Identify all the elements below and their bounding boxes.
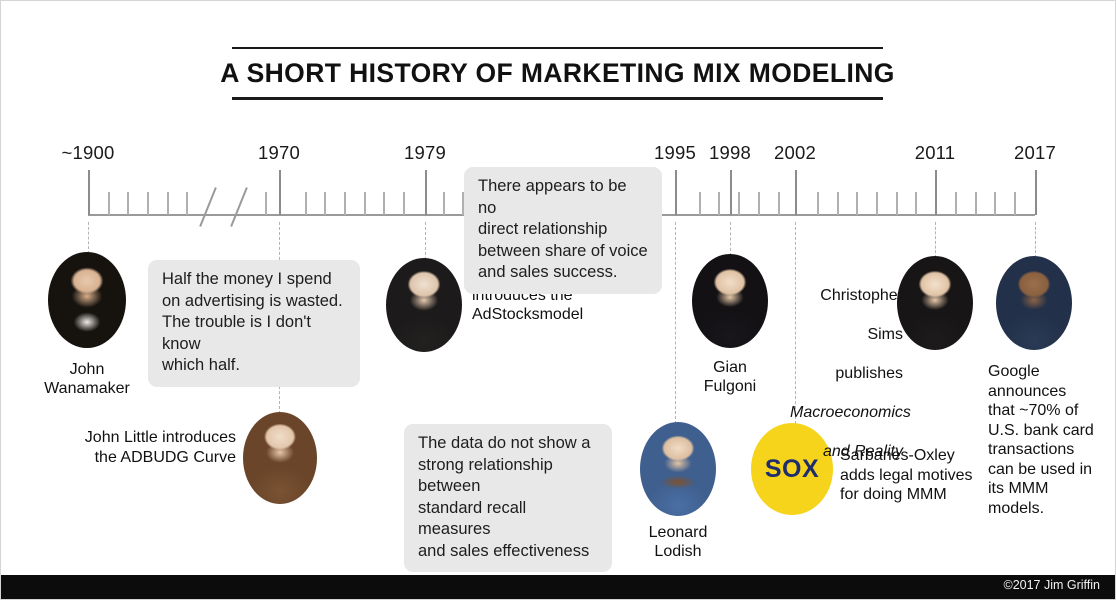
- minor-tick: [167, 192, 169, 215]
- major-tick-1998: [730, 170, 732, 215]
- year-label-1979: 1979: [404, 142, 446, 164]
- portrait-john-little: [243, 412, 317, 504]
- minor-tick: [344, 192, 346, 215]
- description-christopher-sims: Christopher Sims publishes Macroeconomic…: [790, 266, 903, 481]
- sims-book-line-2: and Reality: [790, 442, 903, 462]
- minor-tick: [837, 192, 839, 215]
- major-tick-1979: [425, 170, 427, 215]
- axis-break-slash-2: [230, 187, 248, 227]
- minor-tick: [758, 192, 760, 215]
- title-rule-bottom: [232, 97, 883, 100]
- year-label-2017: 2017: [1014, 142, 1056, 164]
- description-john-little: John Little introduces the ADBUDG Curve: [56, 428, 236, 467]
- minor-tick: [856, 192, 858, 215]
- minor-tick: [975, 192, 977, 215]
- minor-tick: [383, 192, 385, 215]
- major-tick-1900: [88, 170, 90, 215]
- minor-tick: [147, 192, 149, 215]
- portrait-leonard-lodish: [640, 422, 716, 516]
- minor-tick: [364, 192, 366, 215]
- minor-tick: [876, 192, 878, 215]
- quote-bubble-lodish: The data do not show a strong relationsh…: [404, 424, 612, 572]
- portrait-google-executive: [996, 256, 1072, 350]
- sims-line-1: Christopher: [790, 286, 903, 306]
- page-title-text: A SHORT HISTORY OF MARKETING MIX MODELIN…: [232, 47, 883, 100]
- label-john-wanamaker: John Wanamaker: [32, 360, 142, 398]
- major-tick-2011: [935, 170, 937, 215]
- major-tick-2002: [795, 170, 797, 215]
- connector-line: [730, 222, 731, 256]
- minor-tick: [324, 192, 326, 215]
- minor-tick: [127, 192, 129, 215]
- year-label-1998: 1998: [709, 142, 751, 164]
- minor-tick: [108, 192, 110, 215]
- quote-bubble-broadbent: There appears to be no direct relationsh…: [464, 167, 662, 294]
- portrait-john-wanamaker: [48, 252, 126, 348]
- label-gian-fulgoni: Gian Fulgoni: [675, 358, 785, 396]
- minor-tick: [955, 192, 957, 215]
- year-label-1900: ~1900: [62, 142, 115, 164]
- quote-bubble-wanamaker: Half the money I spend on advertising is…: [148, 260, 360, 387]
- portrait-christopher-sims: [897, 256, 973, 350]
- minor-tick: [718, 192, 720, 215]
- minor-tick: [305, 192, 307, 215]
- minor-tick: [403, 192, 405, 215]
- minor-tick: [265, 192, 267, 215]
- connector-line: [935, 222, 936, 258]
- footer-copyright: ©2017 Jim Griffin: [1003, 578, 1100, 592]
- page-title: A SHORT HISTORY OF MARKETING MIX MODELIN…: [232, 47, 883, 100]
- connector-line: [1035, 222, 1036, 258]
- minor-tick: [817, 192, 819, 215]
- major-tick-2017: [1035, 170, 1037, 215]
- year-label-2002: 2002: [774, 142, 816, 164]
- portrait-gian-fulgoni: [692, 254, 768, 348]
- major-tick-1970: [279, 170, 281, 215]
- minor-tick: [186, 192, 188, 215]
- minor-tick: [738, 192, 740, 215]
- minor-tick: [1014, 192, 1016, 215]
- sims-line-3: publishes: [790, 364, 903, 384]
- year-label-2011: 2011: [915, 142, 956, 164]
- infographic-canvas: A SHORT HISTORY OF MARKETING MIX MODELIN…: [0, 0, 1116, 600]
- year-label-1970: 1970: [258, 142, 300, 164]
- major-tick-1995: [675, 170, 677, 215]
- minor-tick: [915, 192, 917, 215]
- axis-break-slash-1: [199, 187, 217, 227]
- description-google: Google announces that ~70% of U.S. bank …: [988, 362, 1106, 518]
- portrait-simon-broadbent: [386, 258, 462, 352]
- minor-tick: [994, 192, 996, 215]
- sims-line-2: Sims: [790, 325, 903, 345]
- label-leonard-lodish: Leonard Lodish: [623, 523, 733, 561]
- year-label-1995: 1995: [654, 142, 696, 164]
- connector-line: [425, 222, 426, 260]
- footer-bar: ©2017 Jim Griffin: [0, 575, 1116, 600]
- minor-tick: [896, 192, 898, 215]
- minor-tick: [443, 192, 445, 215]
- sims-book-line-1: Macroeconomics: [790, 403, 903, 423]
- connector-line: [88, 222, 89, 254]
- minor-tick: [699, 192, 701, 215]
- minor-tick: [778, 192, 780, 215]
